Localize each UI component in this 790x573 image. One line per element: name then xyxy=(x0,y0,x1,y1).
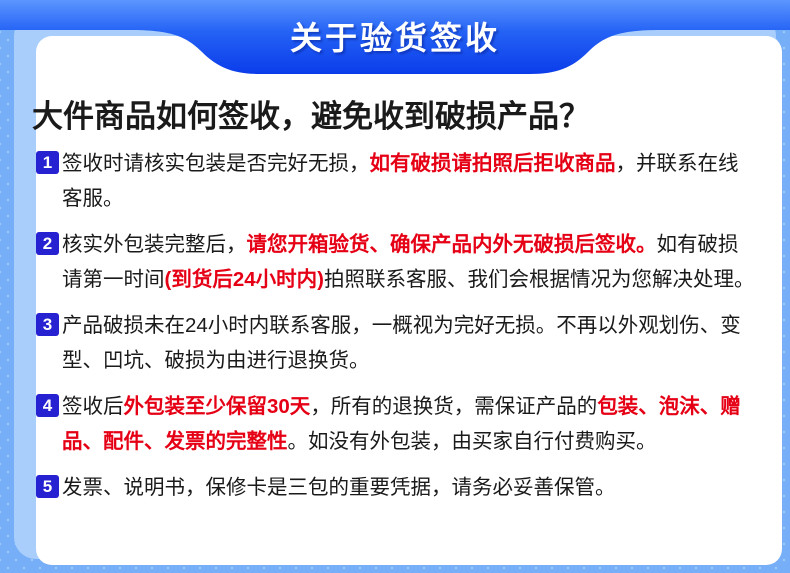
item-number-badge: 5 xyxy=(36,475,59,498)
item-text-highlight: 如有破损请拍照后拒收商品 xyxy=(370,152,616,175)
item-text: 产品破损未在24小时内联系客服，一概视为完好无损。不再以外观划伤、变型、凹坑、破… xyxy=(62,314,741,372)
list-item: 3产品破损未在24小时内联系客服，一概视为完好无损。不再以外观划伤、变型、凹坑、… xyxy=(32,308,758,378)
list-item: 5发票、说明书，保修卡是三包的重要凭据，请务必妥善保管。 xyxy=(32,470,758,505)
item-text: 拍照联系客服、我们会根据情况为您解决处理。 xyxy=(324,268,755,291)
page-title: 大件商品如何签收，避免收到破损产品？ xyxy=(32,96,758,138)
item-text: 签收后 xyxy=(62,395,124,418)
item-number-badge: 3 xyxy=(36,313,59,336)
instruction-list: 1签收时请核实包装是否完好无损，如有破损请拍照后拒收商品，并联系在线客服。2核实… xyxy=(32,146,758,505)
item-text: 发票、说明书，保修卡是三包的重要凭据，请务必妥善保管。 xyxy=(62,476,616,499)
item-text: ，所有的退换货，需保证产品的 xyxy=(310,395,597,418)
list-item: 4签收后外包装至少保留30天，所有的退换货，需保证产品的包装、泡沫、赠品、配件、… xyxy=(32,389,758,459)
item-number-badge: 2 xyxy=(36,232,59,255)
item-text: 。如没有外包装，由买家自行付费购买。 xyxy=(288,430,657,453)
card-content: 大件商品如何签收，避免收到破损产品？ 1签收时请核实包装是否完好无损，如有破损请… xyxy=(32,96,758,505)
list-item: 1签收时请核实包装是否完好无损，如有破损请拍照后拒收商品，并联系在线客服。 xyxy=(32,146,758,216)
item-text-highlight: (到货后24小时内) xyxy=(165,268,324,291)
promo-page: 关于验货签收 大件商品如何签收，避免收到破损产品？ 1签收时请核实包装是否完好无… xyxy=(0,0,790,573)
item-text: 核实外包装完整后， xyxy=(62,233,247,256)
item-number-badge: 4 xyxy=(36,394,59,417)
item-text-highlight: 请您开箱验货、确保产品内外无破损后签收。 xyxy=(247,233,657,256)
list-item: 2核实外包装完整后，请您开箱验货、确保产品内外无破损后签收。如有破损请第一时间(… xyxy=(32,227,758,297)
item-number-badge: 1 xyxy=(36,151,59,174)
item-text-highlight: 外包装至少保留30天 xyxy=(124,395,311,418)
item-text: 签收时请核实包装是否完好无损， xyxy=(62,152,370,175)
